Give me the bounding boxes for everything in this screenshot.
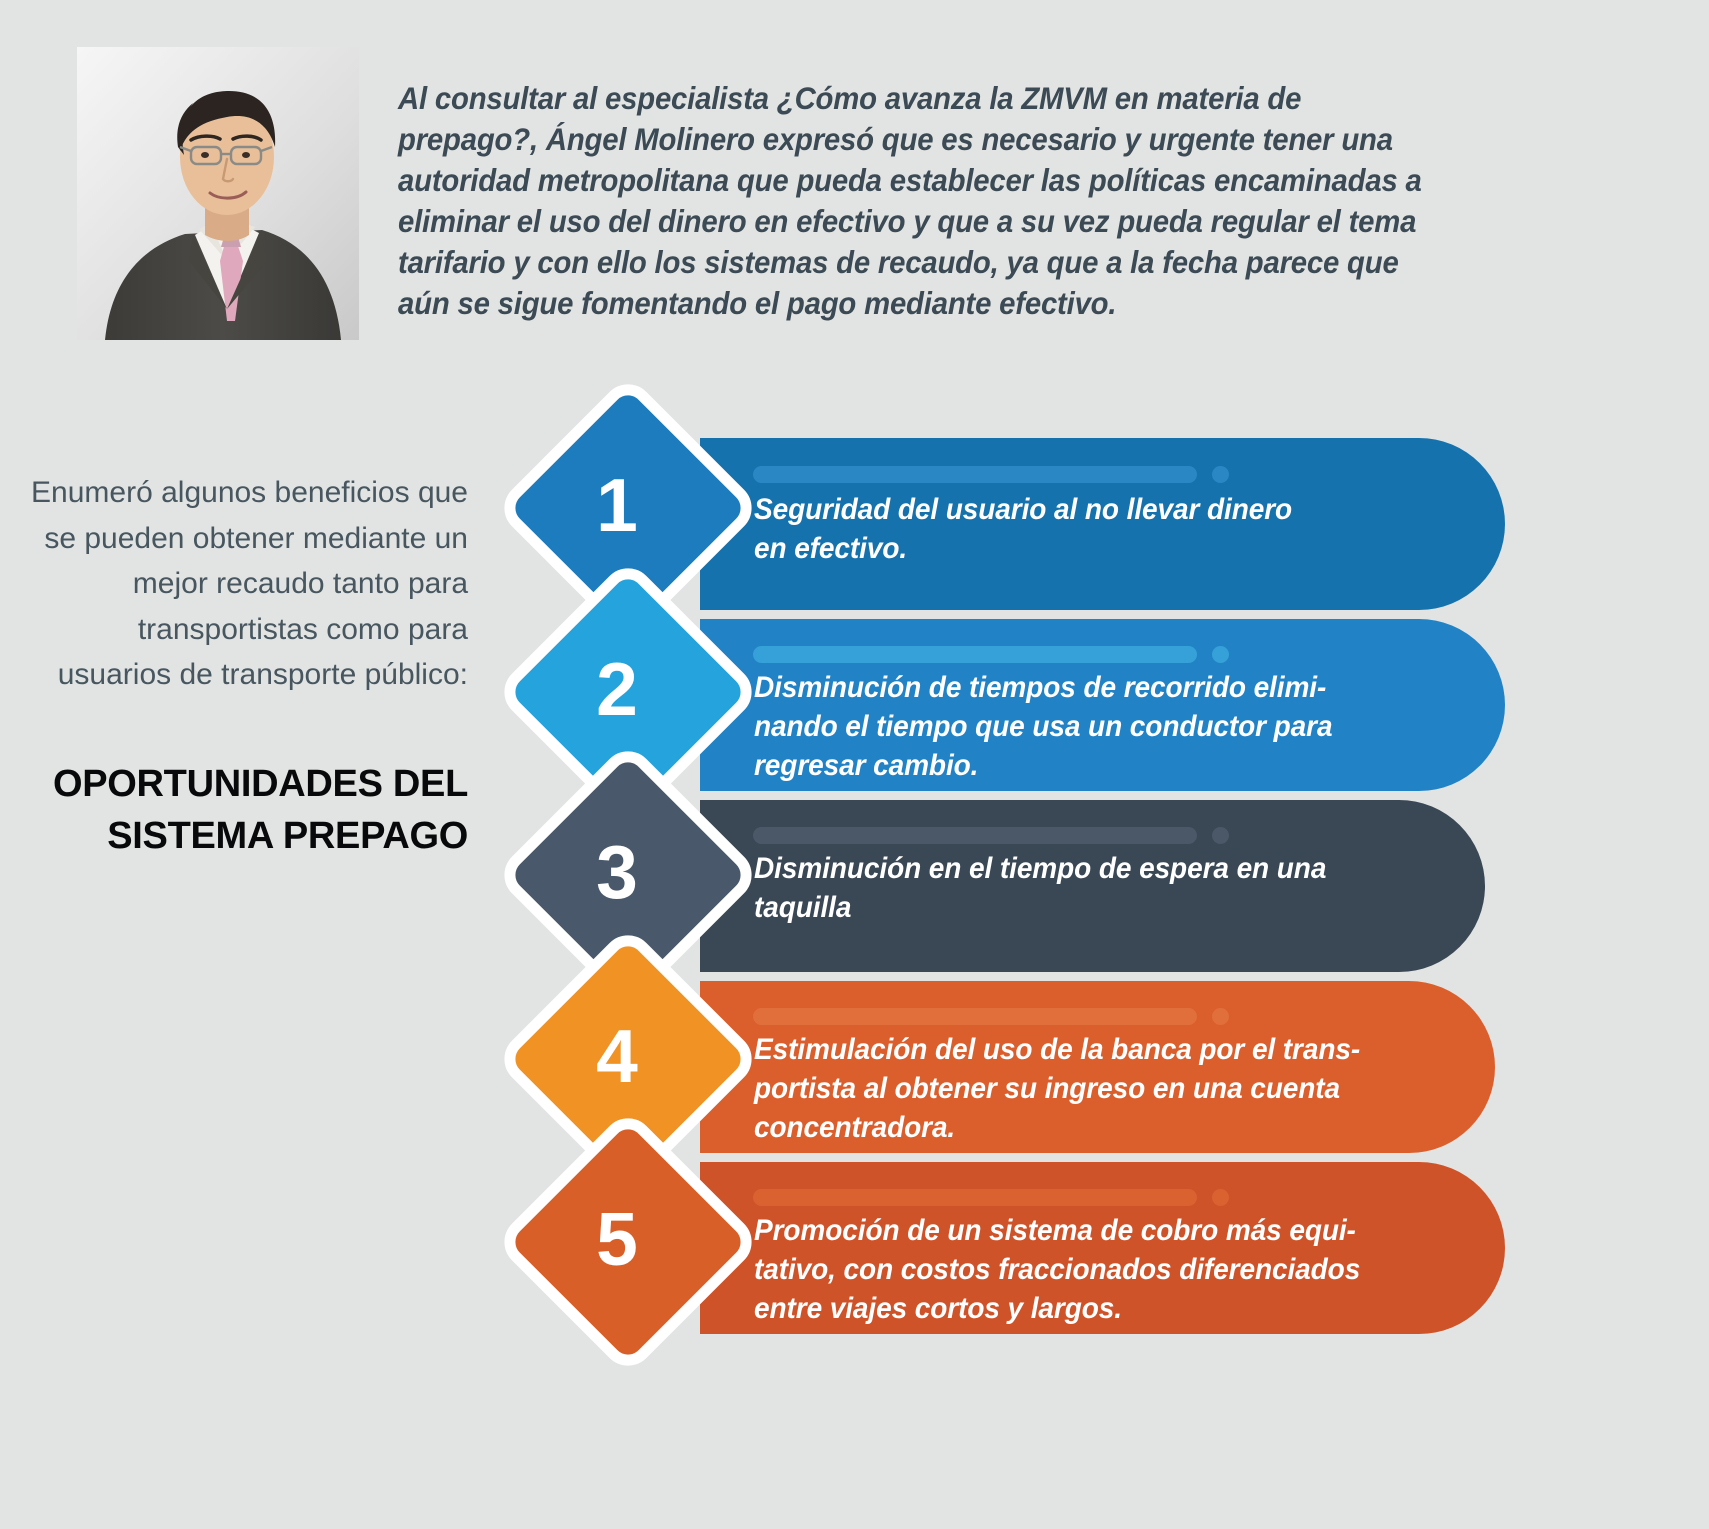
- banner-decor-bar: [753, 466, 1197, 483]
- banner-decor-bar: [753, 646, 1197, 663]
- infographic-page: Al consultar al especialista ¿Cómo avanz…: [0, 0, 1709, 1529]
- banner-decor-bar: [753, 827, 1197, 844]
- banner-decor-dot: [1212, 466, 1229, 483]
- banner-decor-dot: [1212, 1008, 1229, 1025]
- step-text: Disminución en el tiempo de espera en un…: [754, 849, 1414, 927]
- step-badge: 5: [498, 1112, 736, 1350]
- step-text: Seguridad del usuario al no llevar diner…: [754, 490, 1433, 568]
- step-number: 5: [498, 1112, 736, 1350]
- step-text: Promoción de un sistema de cobro más equ…: [754, 1211, 1433, 1328]
- banner-decor-dot: [1212, 646, 1229, 663]
- banner-decor-dot: [1212, 1189, 1229, 1206]
- banner-decor-bar: [753, 1008, 1197, 1025]
- step-text: Disminución de tiempos de recorrido elim…: [754, 668, 1433, 785]
- banner-decor-dot: [1212, 827, 1229, 844]
- banner-decor-bar: [753, 1189, 1197, 1206]
- step-text: Estimulación del uso de la banca por el …: [754, 1030, 1424, 1147]
- steps-list: Seguridad del usuario al no llevar diner…: [0, 0, 1709, 1529]
